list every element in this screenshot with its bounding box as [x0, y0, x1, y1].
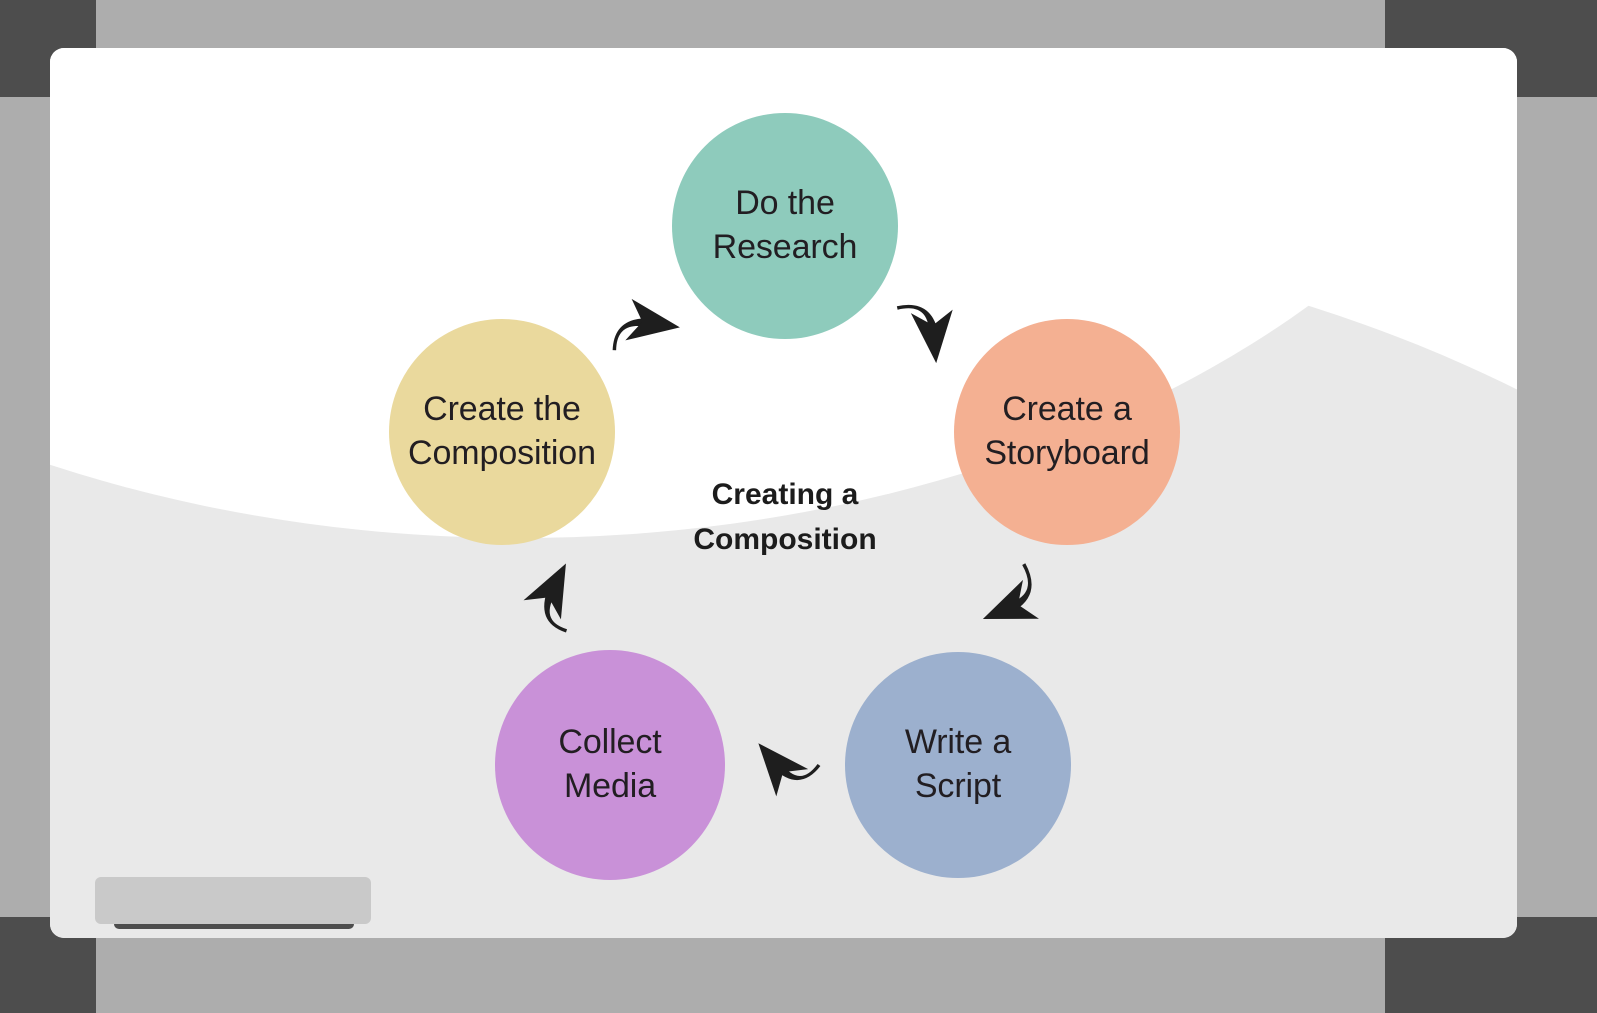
cycle-node-do-the-research[interactable]: Do the Research	[672, 113, 898, 339]
cycle-node-collect-media[interactable]: Collect Media	[495, 650, 725, 880]
cycle-node-create-the-composition[interactable]: Create the Composition	[389, 319, 615, 545]
marker-tray[interactable]	[95, 877, 371, 924]
cycle-node-create-a-storyboard[interactable]: Create a Storyboard	[954, 319, 1180, 545]
cycle-node-label: Do the Research	[713, 182, 858, 269]
diagram-center-title: Creating a Composition	[620, 472, 950, 562]
scene-root: Do the ResearchCreate a StoryboardWrite …	[0, 0, 1597, 1013]
cycle-node-label: Write a Script	[905, 721, 1011, 808]
cycle-node-label: Create the Composition	[408, 388, 596, 475]
cycle-node-write-a-script[interactable]: Write a Script	[845, 652, 1071, 878]
cycle-node-label: Collect Media	[558, 721, 661, 808]
cycle-node-label: Create a Storyboard	[984, 388, 1149, 475]
